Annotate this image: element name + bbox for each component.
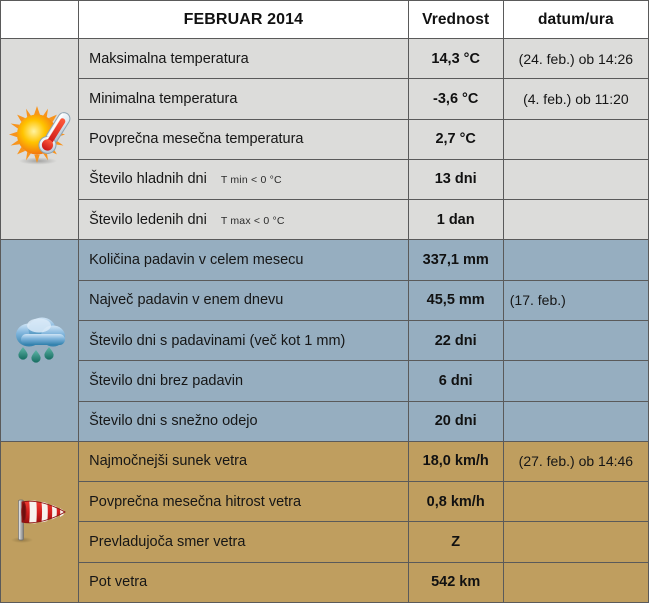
row-label-text: Povprečna mesečna hitrost vetra — [89, 494, 301, 510]
row-label-text: Največ padavin v enem dnevu — [89, 292, 283, 308]
row-label: Število dni s padavinami (več kot 1 mm) — [79, 320, 409, 360]
row-value: 22 dni — [408, 320, 503, 360]
row-date: (27. feb.) ob 14:46 — [503, 441, 648, 481]
row-date — [503, 200, 648, 240]
row-value: 0,8 km/h — [408, 482, 503, 522]
row-label-text: Maksimalna temperatura — [89, 51, 249, 67]
table-row: Maksimalna temperatura14,3 °C(24. feb.) … — [1, 39, 649, 79]
row-value: 2,7 °C — [408, 119, 503, 159]
windsock-icon — [5, 484, 75, 554]
row-label: Število hladnih dniT min < 0 °C — [79, 159, 409, 199]
row-label-text: Število dni s padavinami (več kot 1 mm) — [89, 333, 345, 349]
row-value: Z — [408, 522, 503, 562]
table-row: Največ padavin v enem dnevu45,5 mm(17. f… — [1, 280, 649, 320]
table-row: Količina padavin v celem mesecu337,1 mm — [1, 240, 649, 280]
row-value: 1 dan — [408, 200, 503, 240]
row-label-text: Število dni s snežno odejo — [89, 413, 257, 429]
table-row: Pot vetra542 km — [1, 562, 649, 602]
table-row: Najmočnejši sunek vetra18,0 km/h(27. feb… — [1, 441, 649, 481]
row-date: (4. feb.) ob 11:20 — [503, 79, 648, 119]
row-value: 6 dni — [408, 361, 503, 401]
row-value: 20 dni — [408, 401, 503, 441]
row-label-text: Prevladujoča smer vetra — [89, 534, 245, 550]
row-date: (24. feb.) ob 14:26 — [503, 39, 648, 79]
row-label-text: Količina padavin v celem mesecu — [89, 252, 303, 268]
header-month-title: FEBRUAR 2014 — [79, 1, 409, 39]
row-label-text: Število ledenih dni — [89, 212, 207, 228]
row-date — [503, 522, 648, 562]
header-icon-column — [1, 1, 79, 39]
row-value: 45,5 mm — [408, 280, 503, 320]
row-value: 18,0 km/h — [408, 441, 503, 481]
row-label-text: Število dni brez padavin — [89, 373, 243, 389]
row-label-text: Pot vetra — [89, 574, 147, 590]
row-label-text: Povprečna mesečna temperatura — [89, 131, 303, 147]
table-row: Število ledenih dniT max < 0 °C1 dan — [1, 200, 649, 240]
row-label: Število dni s snežno odejo — [79, 401, 409, 441]
row-label-subnote: T max < 0 °C — [221, 215, 285, 227]
section-icon-cell-temperature — [1, 39, 79, 240]
row-label: Prevladujoča smer vetra — [79, 522, 409, 562]
row-label-subnote: T min < 0 °C — [221, 174, 282, 186]
row-value: 14,3 °C — [408, 39, 503, 79]
row-label: Maksimalna temperatura — [79, 39, 409, 79]
table-row: Število dni s snežno odejo20 dni — [1, 401, 649, 441]
row-value: 542 km — [408, 562, 503, 602]
row-value: 337,1 mm — [408, 240, 503, 280]
row-label: Število dni brez padavin — [79, 361, 409, 401]
row-label-text: Najmočnejši sunek vetra — [89, 453, 247, 469]
table-row: Število hladnih dniT min < 0 °C13 dni — [1, 159, 649, 199]
table-header-row: FEBRUAR 2014 Vrednost datum/ura — [1, 1, 649, 39]
row-date — [503, 401, 648, 441]
row-label: Najmočnejši sunek vetra — [79, 441, 409, 481]
row-date — [503, 361, 648, 401]
row-value: 13 dni — [408, 159, 503, 199]
table-row: Število dni s padavinami (več kot 1 mm)2… — [1, 320, 649, 360]
table-row: Minimalna temperatura-3,6 °C(4. feb.) ob… — [1, 79, 649, 119]
row-date — [503, 119, 648, 159]
row-label: Število ledenih dniT max < 0 °C — [79, 200, 409, 240]
row-label-text: Minimalna temperatura — [89, 91, 237, 107]
row-label: Minimalna temperatura — [79, 79, 409, 119]
row-label-text: Število hladnih dni — [89, 171, 207, 187]
section-icon-cell-precipitation — [1, 240, 79, 441]
row-date — [503, 159, 648, 199]
row-label: Povprečna mesečna temperatura — [79, 119, 409, 159]
row-label: Pot vetra — [79, 562, 409, 602]
header-date-column: datum/ura — [503, 1, 648, 39]
table-row: Prevladujoča smer vetraZ — [1, 522, 649, 562]
header-value-column: Vrednost — [408, 1, 503, 39]
section-icon-cell-wind — [1, 441, 79, 602]
table-row: Povprečna mesečna temperatura2,7 °C — [1, 119, 649, 159]
row-label: Povprečna mesečna hitrost vetra — [79, 482, 409, 522]
table-body: Maksimalna temperatura14,3 °C(24. feb.) … — [1, 39, 649, 603]
rain-cloud-icon — [5, 303, 75, 373]
row-label: Največ padavin v enem dnevu — [79, 280, 409, 320]
row-date — [503, 240, 648, 280]
row-date — [503, 320, 648, 360]
monthly-weather-summary-table: FEBRUAR 2014 Vrednost datum/ura — [0, 0, 649, 603]
table-row: Povprečna mesečna hitrost vetra0,8 km/h — [1, 482, 649, 522]
sun-thermometer-icon — [5, 102, 75, 172]
row-label: Količina padavin v celem mesecu — [79, 240, 409, 280]
row-date: (17. feb.) — [503, 280, 648, 320]
row-date — [503, 562, 648, 602]
table-row: Število dni brez padavin6 dni — [1, 361, 649, 401]
row-date — [503, 482, 648, 522]
row-value: -3,6 °C — [408, 79, 503, 119]
